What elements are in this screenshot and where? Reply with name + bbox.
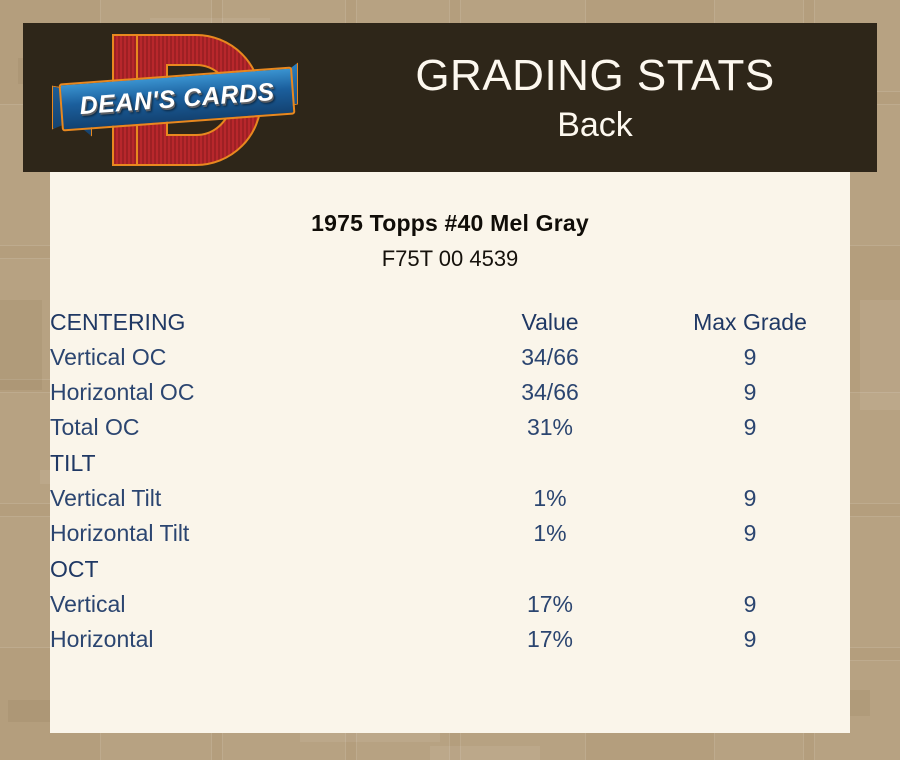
table-header-row: CENTERINGValueMax Grade bbox=[50, 304, 850, 340]
header-bar: DEAN'S CARDS GRADING STATS Back bbox=[23, 23, 877, 172]
stat-value: 1% bbox=[450, 481, 650, 516]
stat-value: 17% bbox=[450, 587, 650, 622]
page-subtitle: Back bbox=[557, 104, 633, 146]
logo-banner-text: DEAN'S CARDS bbox=[59, 66, 296, 131]
table-row: Total OC31%9 bbox=[50, 410, 850, 445]
stat-max-grade: 9 bbox=[650, 410, 850, 445]
stat-value: 34/66 bbox=[450, 375, 650, 410]
page-title: GRADING STATS bbox=[415, 50, 774, 102]
section-heading: TILT bbox=[50, 445, 850, 481]
stat-max-grade: 9 bbox=[650, 516, 850, 551]
stat-label: Vertical Tilt bbox=[50, 481, 450, 516]
table-row: Horizontal Tilt1%9 bbox=[50, 516, 850, 551]
page-frame: DEAN'S CARDS GRADING STATS Back 1975 Top… bbox=[0, 0, 900, 760]
stat-max-grade: 9 bbox=[650, 481, 850, 516]
grading-stats-body: CENTERINGValueMax GradeVertical OC34/669… bbox=[50, 304, 850, 657]
stat-label: Horizontal Tilt bbox=[50, 516, 450, 551]
stat-value: 17% bbox=[450, 622, 650, 657]
stat-max-grade: 9 bbox=[650, 375, 850, 410]
table-row: Horizontal17%9 bbox=[50, 622, 850, 657]
stat-value: 34/66 bbox=[450, 340, 650, 375]
section-heading: CENTERING bbox=[50, 304, 450, 340]
column-header-value: Value bbox=[450, 304, 650, 340]
stat-value: 1% bbox=[450, 516, 650, 551]
section-heading: OCT bbox=[50, 551, 850, 587]
header-title-group: GRADING STATS Back bbox=[313, 23, 877, 172]
stat-label: Total OC bbox=[50, 410, 450, 445]
table-row: Vertical OC34/669 bbox=[50, 340, 850, 375]
column-header-max-grade: Max Grade bbox=[650, 304, 850, 340]
table-row: Vertical Tilt1%9 bbox=[50, 481, 850, 516]
stat-label: Vertical OC bbox=[50, 340, 450, 375]
logo-banner: DEAN'S CARDS bbox=[50, 67, 303, 133]
table-section-row: TILT bbox=[50, 445, 850, 481]
table-row: Horizontal OC34/669 bbox=[50, 375, 850, 410]
stat-value: 31% bbox=[450, 410, 650, 445]
stat-label: Horizontal bbox=[50, 622, 450, 657]
card-title: 1975 Topps #40 Mel Gray bbox=[50, 210, 850, 237]
table-row: Vertical17%9 bbox=[50, 587, 850, 622]
deans-cards-logo[interactable]: DEAN'S CARDS bbox=[50, 29, 303, 169]
grading-stats-table: CENTERINGValueMax GradeVertical OC34/669… bbox=[50, 304, 850, 657]
stat-max-grade: 9 bbox=[650, 622, 850, 657]
stat-label: Vertical bbox=[50, 587, 450, 622]
stat-label: Horizontal OC bbox=[50, 375, 450, 410]
content-panel: 1975 Topps #40 Mel Gray F75T 00 4539 CEN… bbox=[50, 172, 850, 733]
card-serial-number: F75T 00 4539 bbox=[50, 246, 850, 272]
table-section-row: OCT bbox=[50, 551, 850, 587]
stat-max-grade: 9 bbox=[650, 340, 850, 375]
stat-max-grade: 9 bbox=[650, 587, 850, 622]
